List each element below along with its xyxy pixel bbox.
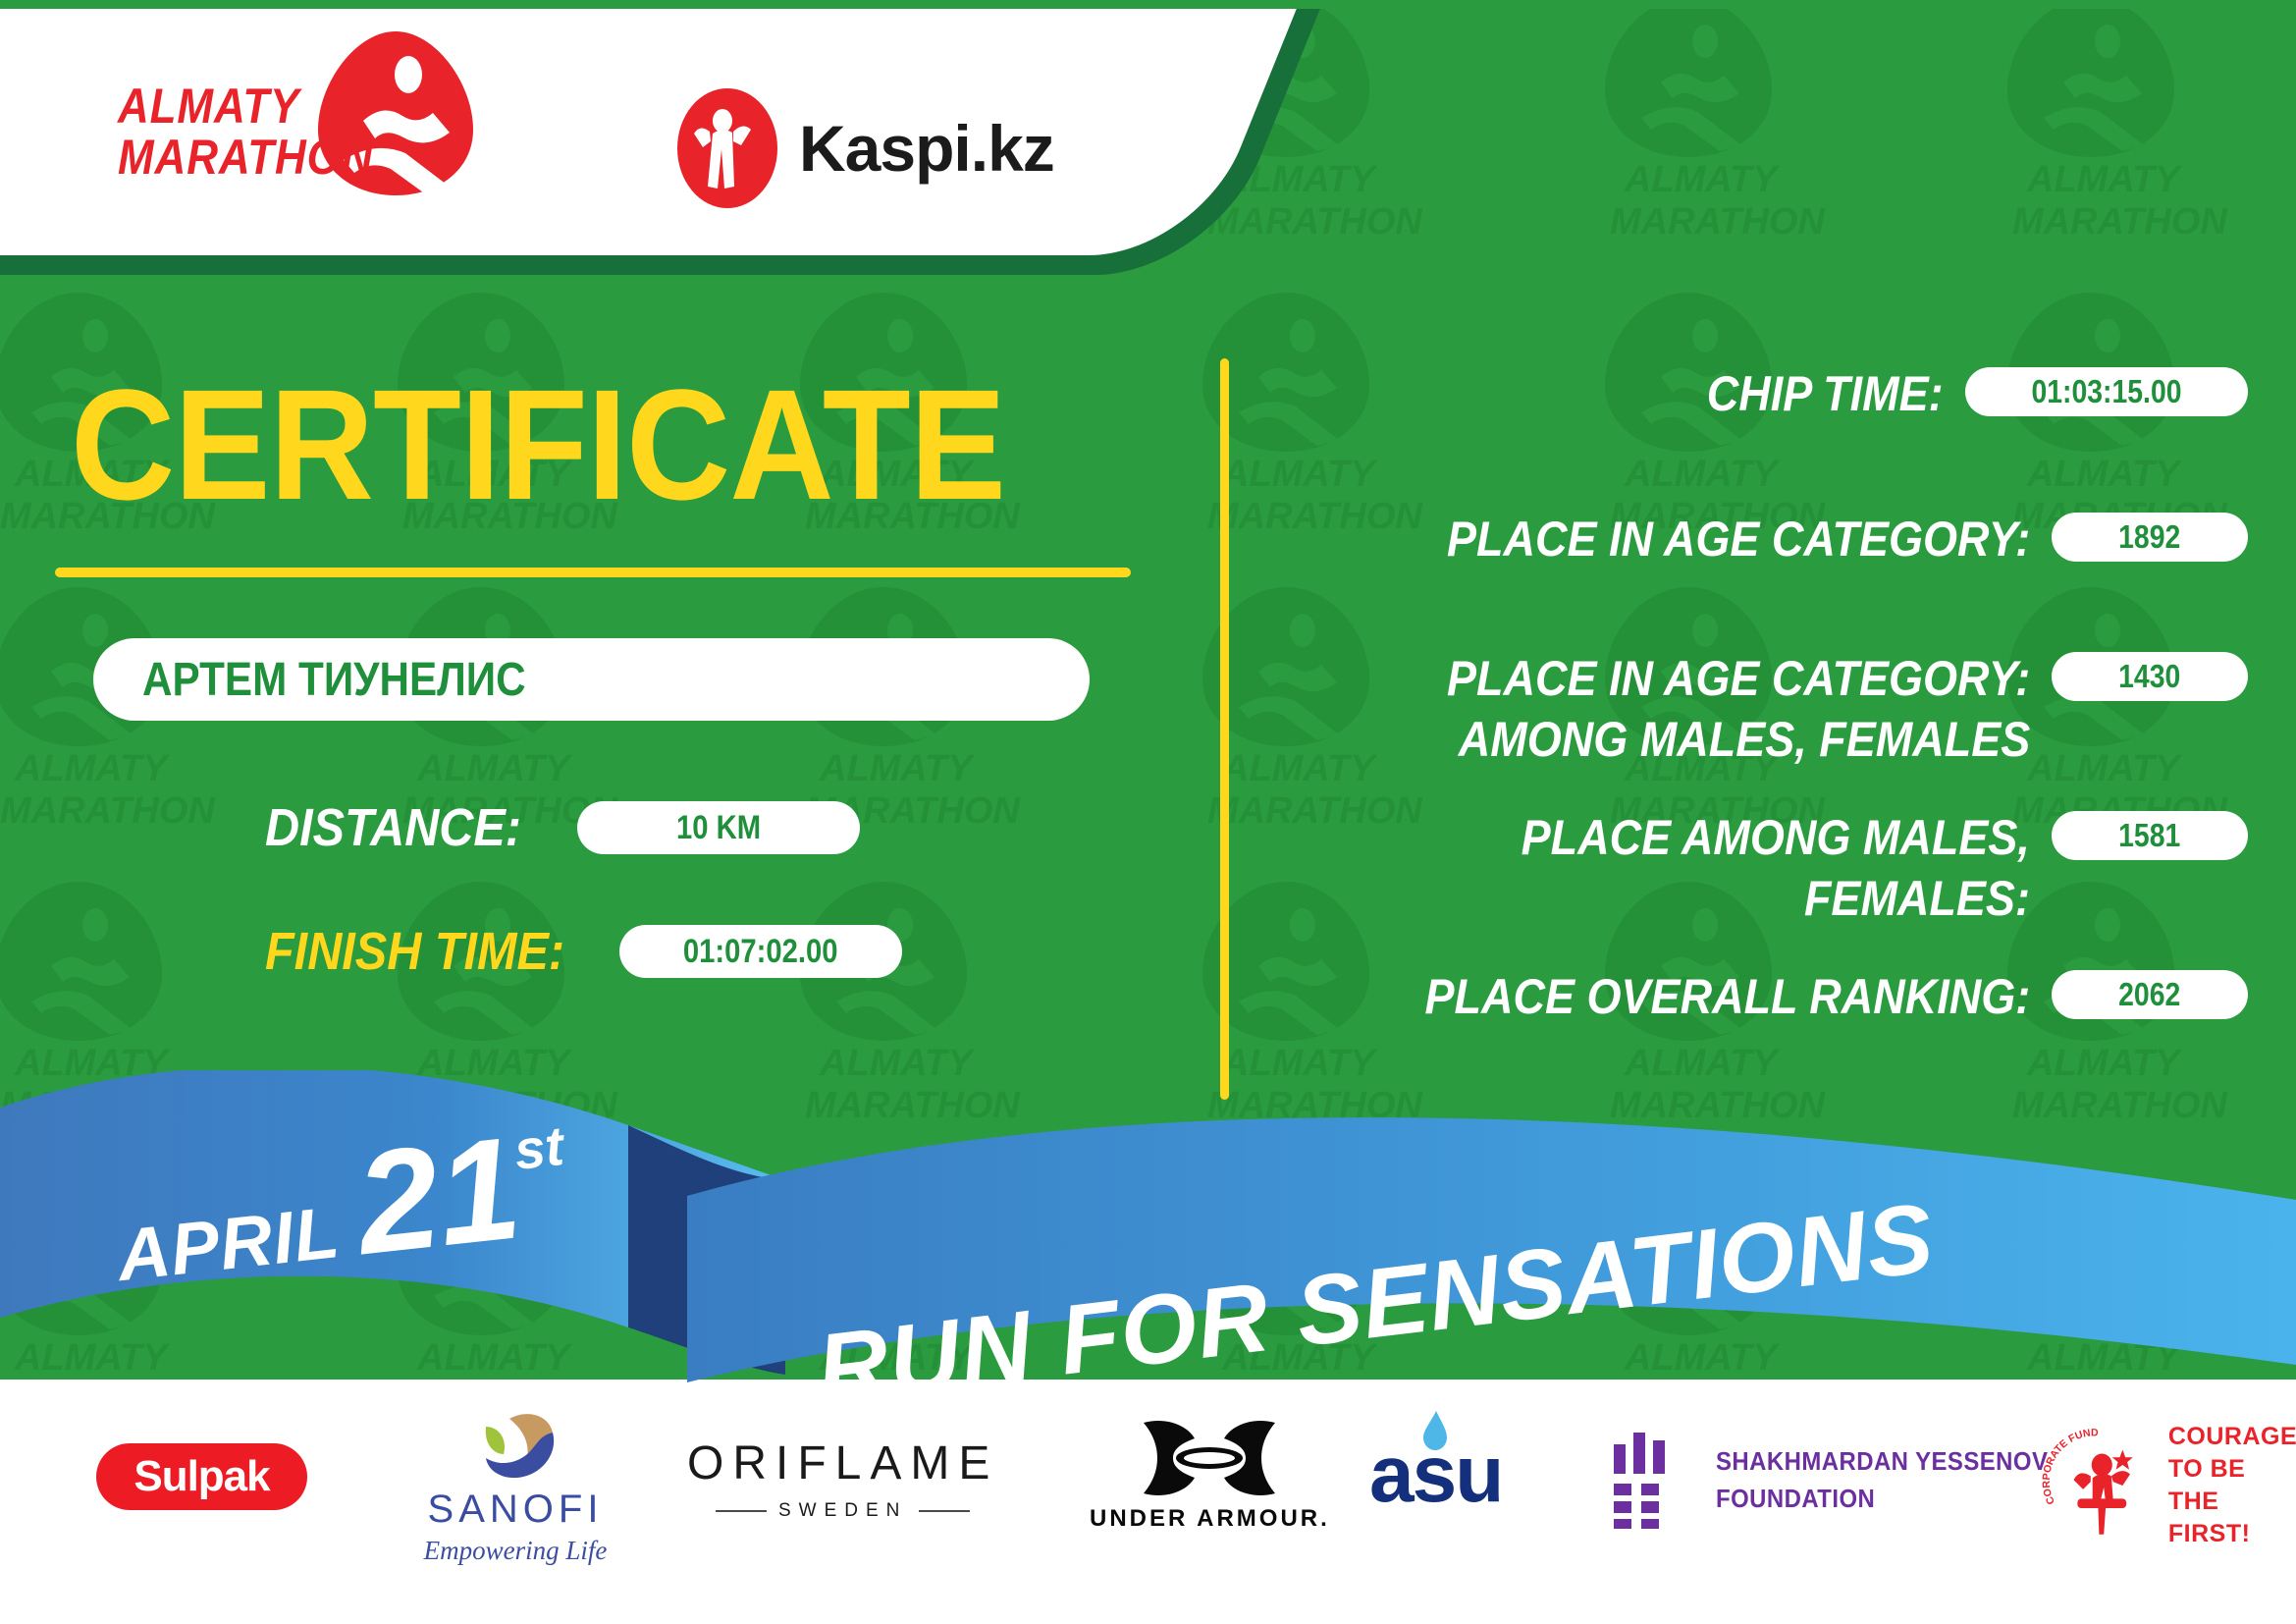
oriflame-rule-left	[716, 1510, 767, 1512]
result-row-chip-time: CHIP TIME: 01:03:15.00	[1266, 363, 2248, 424]
svg-text:CORPORATE FUND: CORPORATE FUND	[2042, 1427, 2099, 1506]
result-row-place-overall: PLACE OVERALL RANKING: 2062	[1266, 966, 2248, 1027]
courage-line-3: THE FIRST!	[2168, 1486, 2296, 1550]
courage-wordmark: COURAGE TO BE THE FIRST!	[2168, 1421, 2296, 1550]
yessenov-wordmark: SHAKHMARDAN YESSENOV FOUNDATION	[1716, 1442, 2048, 1517]
sponsor-sanofi: SANOFI Empowering Life	[393, 1411, 638, 1566]
courage-line-1: COURAGE	[2168, 1421, 2296, 1453]
finish-time-value-pill: 01:07:02.00	[619, 925, 902, 978]
sponsor-courage-fund: CORPORATE FUND COURAGE TO BE THE FIRST!	[2042, 1421, 2296, 1550]
result-row-place-age-category: PLACE IN AGE CATEGORY: 1892	[1266, 509, 2248, 569]
place-overall-value-pill: 2062	[2052, 970, 2248, 1019]
top-accent-stripe	[0, 0, 2296, 9]
title-underline	[55, 568, 1131, 577]
oriflame-subline: SWEDEN	[716, 1500, 970, 1522]
courage-line-2: TO BE	[2168, 1453, 2296, 1486]
chip-time-value: 01:03:15.00	[2031, 373, 2181, 410]
chip-time-value-pill: 01:03:15.00	[1965, 367, 2248, 416]
result-row-place-age-category-gender: PLACE IN AGE CATEGORY: AMONG MALES, FEMA…	[1266, 648, 2248, 770]
courage-fund-icon: CORPORATE FUND	[2042, 1427, 2155, 1544]
yessenov-line-2: FOUNDATION	[1716, 1480, 2048, 1517]
results-column: CHIP TIME: 01:03:15.00 PLACE IN AGE CATE…	[1266, 363, 2248, 1139]
sanofi-wordmark: SANOFI	[428, 1488, 604, 1532]
place-overall-value: 2062	[2118, 976, 2180, 1013]
oriflame-rule-right	[919, 1510, 970, 1512]
left-column: CERTIFICATE АРТЕМ ТИУНЕЛИС DISTANCE: 10 …	[0, 0, 1217, 1139]
athlete-name-field: АРТЕМ ТИУНЕЛИС	[93, 638, 1090, 721]
page-title: CERTIFICATE	[71, 371, 1005, 518]
place-among-gender-value-pill: 1581	[2052, 811, 2248, 860]
result-row-place-among-gender: PLACE AMONG MALES, FEMALES: 1581	[1266, 807, 2248, 929]
place-age-category-value: 1892	[2118, 518, 2180, 556]
asu-wordmark: asu	[1369, 1429, 1502, 1521]
finish-time-row: FINISH TIME: 01:07:02.00	[265, 921, 902, 982]
under-armour-logo-icon	[1136, 1417, 1283, 1499]
place-among-gender-value: 1581	[2118, 817, 2180, 854]
vertical-divider	[1220, 358, 1229, 1100]
sponsor-asu: asu	[1369, 1429, 1502, 1521]
oriflame-wordmark: ORIFLAME	[687, 1436, 998, 1490]
yessenov-mark-icon	[1610, 1431, 1690, 1529]
ribbon-day-suffix: st	[511, 1113, 567, 1182]
distance-row: DISTANCE: 10 KM	[265, 797, 860, 858]
distance-label: DISTANCE:	[265, 797, 521, 858]
certificate-page: ALMATY MARATHON ALMATY MARATHON	[0, 0, 2296, 1624]
sponsor-sulpak: Sulpak	[96, 1443, 307, 1510]
athlete-name-value: АРТЕМ ТИУНЕЛИС	[142, 653, 526, 707]
chip-time-label: CHIP TIME:	[1266, 363, 1965, 424]
place-age-category-label: PLACE IN AGE CATEGORY:	[1266, 509, 2052, 569]
sponsor-oriflame: ORIFLAME SWEDEN	[687, 1436, 998, 1522]
ribbon-day: 21	[349, 1105, 528, 1288]
finish-time-value: 01:07:02.00	[683, 933, 838, 971]
place-among-gender-label: PLACE AMONG MALES, FEMALES:	[1266, 807, 2052, 929]
place-overall-label: PLACE OVERALL RANKING:	[1266, 966, 2052, 1027]
place-age-category-gender-value-pill: 1430	[2052, 652, 2248, 701]
place-age-category-value-pill: 1892	[2052, 513, 2248, 562]
under-armour-wordmark: UNDER ARMOUR.	[1090, 1505, 1330, 1533]
distance-value-pill: 10 KM	[577, 801, 860, 854]
yessenov-line-1: SHAKHMARDAN YESSENOV	[1716, 1442, 2048, 1480]
sulpak-wordmark: Sulpak	[133, 1452, 269, 1501]
place-age-category-gender-value: 1430	[2118, 658, 2180, 695]
sanofi-mark-icon	[470, 1411, 561, 1484]
sanofi-tagline: Empowering Life	[424, 1536, 608, 1566]
oriflame-tagline: SWEDEN	[778, 1500, 907, 1522]
place-age-category-gender-label: PLACE IN AGE CATEGORY: AMONG MALES, FEMA…	[1266, 648, 2052, 770]
sponsor-bar: Sulpak SANOFI Empowering Life ORIFLAME S…	[0, 1389, 2296, 1624]
sponsor-under-armour: UNDER ARMOUR.	[1090, 1417, 1330, 1533]
asu-droplet-icon	[1420, 1409, 1450, 1452]
sponsor-yessenov-foundation: SHAKHMARDAN YESSENOV FOUNDATION	[1610, 1431, 2077, 1529]
distance-value: 10 KM	[676, 809, 761, 847]
ribbon-month: APRIL	[113, 1190, 344, 1297]
finish-time-label: FINISH TIME:	[265, 921, 564, 982]
